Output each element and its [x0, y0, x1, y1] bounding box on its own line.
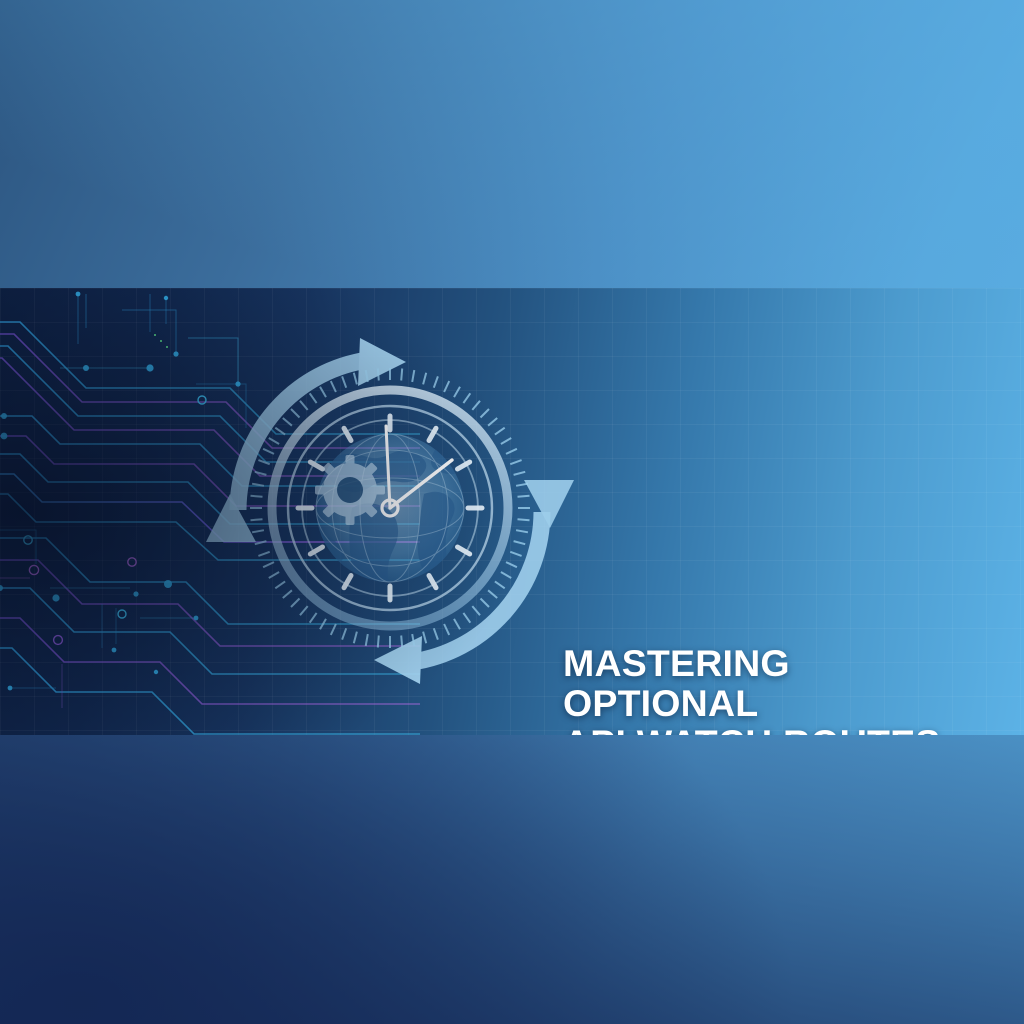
clock-globe-graphic	[200, 298, 580, 728]
headline-line-1: MASTERING OPTIONAL	[563, 644, 983, 724]
hero-banner: MASTERING OPTIONAL API WATCH ROUTES DYNA…	[0, 288, 1024, 735]
gear-icon	[315, 455, 385, 525]
page-root: MASTERING OPTIONAL API WATCH ROUTES DYNA…	[0, 0, 1024, 1024]
headline-block: MASTERING OPTIONAL API WATCH ROUTES DYNA…	[563, 644, 983, 735]
headline-line-2: API WATCH ROUTES	[563, 724, 983, 736]
